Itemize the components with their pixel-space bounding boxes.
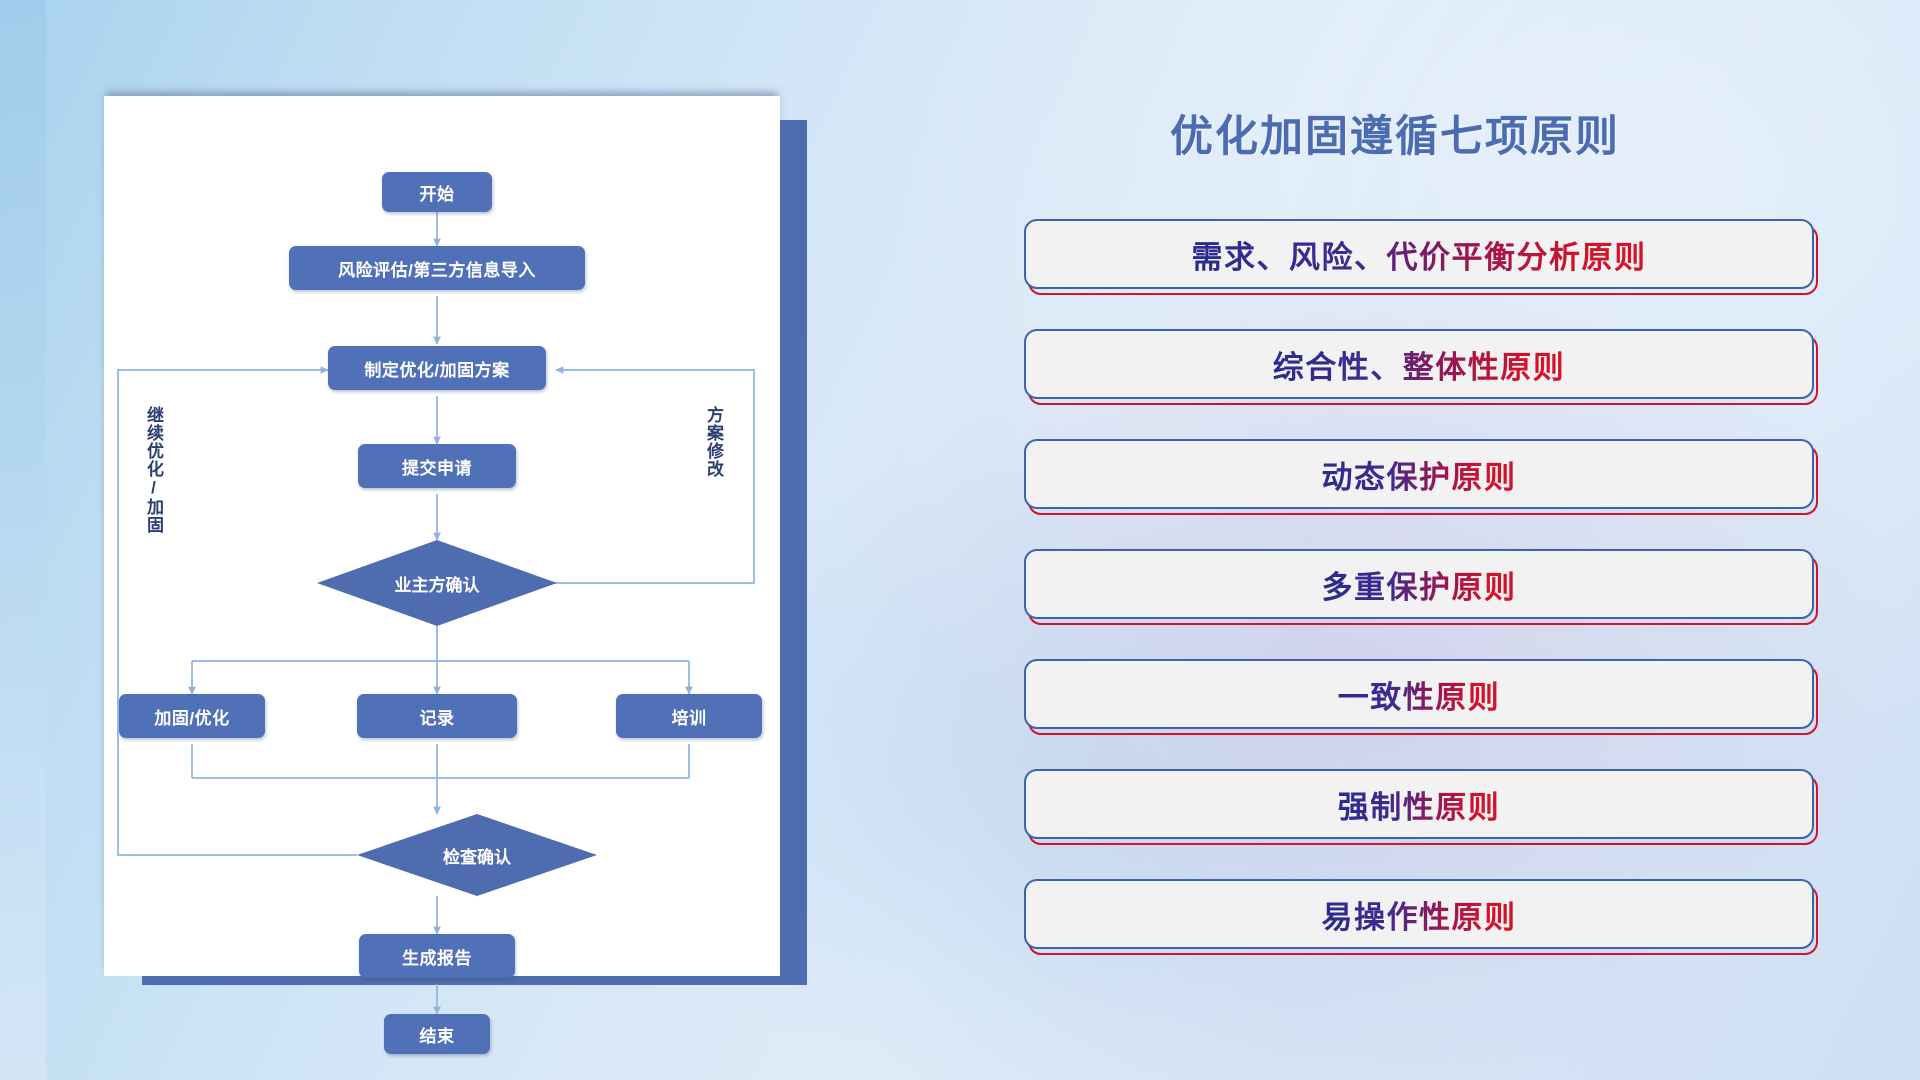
principle-label: 强制性原则 [1338,782,1501,827]
flow-node-record[interactable]: 记录 [357,694,517,738]
principle-pill[interactable]: 综合性、整体性原则 [1024,329,1814,399]
flow-node-plan[interactable]: 制定优化/加固方案 [328,346,546,390]
flow-node-training[interactable]: 培训 [616,694,762,738]
principle-item[interactable]: 一致性原则 [1024,659,1824,731]
principle-item[interactable]: 强制性原则 [1024,769,1824,841]
principle-item[interactable]: 多重保护原则 [1024,549,1824,621]
flow-node-owner-confirm-label: 业主方确认 [395,571,480,596]
flow-edge-label-plan-revise: 方案修改 [704,406,723,478]
principle-label: 易操作性原则 [1322,892,1517,937]
flow-edge-label-continue-optimize: 继续优化/加固 [144,406,163,534]
principle-pill[interactable]: 需求、风险、代价平衡分析原则 [1024,219,1814,289]
flow-node-generate-report[interactable]: 生成报告 [359,934,515,978]
flow-node-risk-assessment[interactable]: 风险评估/第三方信息导入 [289,246,585,290]
principle-label: 一致性原则 [1338,672,1501,717]
principle-pill[interactable]: 一致性原则 [1024,659,1814,729]
principle-label: 需求、风险、代价平衡分析原则 [1192,232,1647,277]
flowchart-canvas: 开始 风险评估/第三方信息导入 制定优化/加固方案 提交申请 业主方确认 加固/… [104,96,780,976]
principle-pill[interactable]: 多重保护原则 [1024,549,1814,619]
principle-pill[interactable]: 易操作性原则 [1024,879,1814,949]
flow-node-end[interactable]: 结束 [384,1014,490,1054]
principle-label: 多重保护原则 [1322,562,1517,607]
principle-item[interactable]: 动态保护原则 [1024,439,1824,511]
principle-pill[interactable]: 强制性原则 [1024,769,1814,839]
principle-item[interactable]: 需求、风险、代价平衡分析原则 [1024,219,1824,291]
principle-label: 动态保护原则 [1322,452,1517,497]
principle-label: 综合性、整体性原则 [1273,342,1566,387]
flow-node-owner-confirm[interactable]: 业主方确认 [317,540,557,626]
flow-node-check-confirm-label: 检查确认 [443,843,511,868]
flow-node-submit-application[interactable]: 提交申请 [358,444,516,488]
flowchart-card: 开始 风险评估/第三方信息导入 制定优化/加固方案 提交申请 业主方确认 加固/… [104,96,780,976]
flow-node-start[interactable]: 开始 [382,172,492,212]
principle-pill[interactable]: 动态保护原则 [1024,439,1814,509]
slide-root: 开始 风险评估/第三方信息导入 制定优化/加固方案 提交申请 业主方确认 加固/… [0,0,1920,1080]
flow-node-reinforce[interactable]: 加固/优化 [119,694,265,738]
principle-item[interactable]: 易操作性原则 [1024,879,1824,951]
principles-list: 需求、风险、代价平衡分析原则 综合性、整体性原则 动态保护原则 多重保护原则 [1024,219,1824,989]
principle-item[interactable]: 综合性、整体性原则 [1024,329,1824,401]
principles-title: 优化加固遵循七项原则 [1010,102,1780,164]
principles-panel: 优化加固遵循七项原则 需求、风险、代价平衡分析原则 综合性、整体性原则 动态保护… [1010,86,1840,1016]
flow-node-check-confirm[interactable]: 检查确认 [357,814,597,896]
